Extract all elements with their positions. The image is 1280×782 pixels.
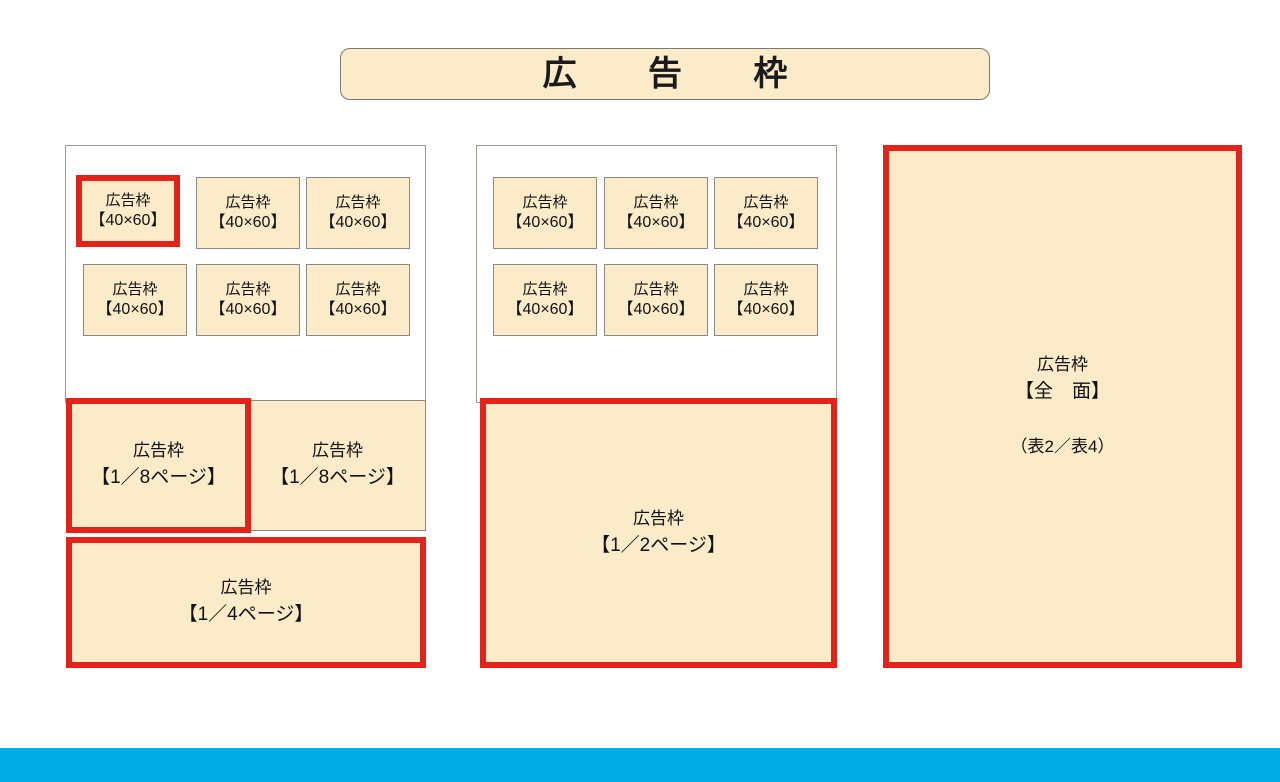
ad-slot-label-line2: 【40×60】 bbox=[90, 210, 167, 231]
ad-slot-label-line1: 広告枠 bbox=[335, 193, 380, 213]
ad-slot-40x60[interactable]: 広告枠 【40×60】 bbox=[493, 264, 597, 336]
ad-slot-label-line1: 広告枠 bbox=[633, 507, 684, 532]
ad-slot-40x60[interactable]: 広告枠 【40×60】 bbox=[714, 264, 818, 336]
ad-slot-label-line1: 広告枠 bbox=[522, 280, 567, 300]
ad-slot-40x60[interactable]: 広告枠 【40×60】 bbox=[604, 264, 708, 336]
ad-slot-label-line1: 広告枠 bbox=[335, 280, 380, 300]
slide-canvas: 広 告 枠 広告枠 【40×60】 広告枠 【40×60】 広告枠 【40×60… bbox=[0, 0, 1280, 782]
ad-slot-label-line2: 【40×60】 bbox=[618, 212, 695, 233]
ad-slot-label-line1: 広告枠 bbox=[1037, 353, 1088, 378]
page-title: 広 告 枠 bbox=[524, 57, 806, 91]
ad-slot-40x60[interactable]: 広告枠 【40×60】 bbox=[196, 264, 300, 336]
ad-slot-label-line2: 【40×60】 bbox=[210, 299, 287, 320]
ad-slot-label-line1: 広告枠 bbox=[105, 191, 150, 211]
ad-slot-label-line2: 【40×60】 bbox=[728, 299, 805, 320]
ad-slot-eighth-page-right[interactable]: 広告枠 【1／8ページ】 bbox=[249, 400, 426, 531]
ad-slot-half-page[interactable]: 広告枠 【1／2ページ】 bbox=[480, 398, 837, 668]
ad-slot-eighth-page-left[interactable]: 広告枠 【1／8ページ】 bbox=[66, 398, 251, 533]
ad-slot-label-line1: 広告枠 bbox=[221, 576, 272, 601]
ad-slot-full-page[interactable]: 広告枠 【全 面】 （表2／表4） bbox=[883, 145, 1242, 668]
ad-slot-label-line2: 【1／2ページ】 bbox=[591, 532, 726, 560]
ad-slot-quarter-page[interactable]: 広告枠 【1／4ページ】 bbox=[66, 537, 426, 668]
ad-slot-label-line1: 広告枠 bbox=[112, 280, 157, 300]
ad-slot-40x60[interactable]: 広告枠 【40×60】 bbox=[604, 177, 708, 249]
ad-slot-label-line1: 広告枠 bbox=[743, 280, 788, 300]
ad-slot-40x60[interactable]: 広告枠 【40×60】 bbox=[76, 175, 180, 247]
bottom-accent-bar bbox=[0, 748, 1280, 782]
ad-slot-40x60[interactable]: 広告枠 【40×60】 bbox=[714, 177, 818, 249]
ad-slot-label-line2: 【40×60】 bbox=[618, 299, 695, 320]
ad-slot-label-line1: 広告枠 bbox=[633, 280, 678, 300]
ad-slot-label-line1: 広告枠 bbox=[312, 439, 363, 464]
ad-slot-label-line2: 【40×60】 bbox=[320, 299, 397, 320]
ad-slot-label-line2: 【40×60】 bbox=[210, 212, 287, 233]
ad-slot-label-line2: 【40×60】 bbox=[728, 212, 805, 233]
ad-slot-40x60[interactable]: 広告枠 【40×60】 bbox=[306, 177, 410, 249]
ad-slot-label-line3: （表2／表4） bbox=[1011, 435, 1115, 460]
ad-slot-label-line2: 【40×60】 bbox=[507, 299, 584, 320]
ad-slot-label-line1: 広告枠 bbox=[225, 193, 270, 213]
ad-slot-label-line2: 【1／4ページ】 bbox=[179, 601, 314, 629]
ad-slot-label-line2: 【1／8ページ】 bbox=[91, 464, 226, 492]
ad-slot-40x60[interactable]: 広告枠 【40×60】 bbox=[83, 264, 187, 336]
ad-slot-label-line2: 【40×60】 bbox=[97, 299, 174, 320]
ad-slot-label-line1: 広告枠 bbox=[133, 439, 184, 464]
ad-slot-40x60[interactable]: 広告枠 【40×60】 bbox=[306, 264, 410, 336]
ad-slot-40x60[interactable]: 広告枠 【40×60】 bbox=[493, 177, 597, 249]
ad-slot-label-line1: 広告枠 bbox=[633, 193, 678, 213]
ad-slot-label-line2: 【40×60】 bbox=[320, 212, 397, 233]
ad-slot-label-line1: 広告枠 bbox=[225, 280, 270, 300]
ad-slot-label-line2: 【40×60】 bbox=[507, 212, 584, 233]
ad-slot-label-line2: 【全 面】 bbox=[1015, 378, 1110, 406]
page-title-banner: 広 告 枠 bbox=[340, 48, 990, 100]
ad-slot-40x60[interactable]: 広告枠 【40×60】 bbox=[196, 177, 300, 249]
ad-slot-label-line1: 広告枠 bbox=[522, 193, 567, 213]
ad-slot-label-line1: 広告枠 bbox=[743, 193, 788, 213]
ad-slot-label-line2: 【1／8ページ】 bbox=[270, 464, 405, 492]
